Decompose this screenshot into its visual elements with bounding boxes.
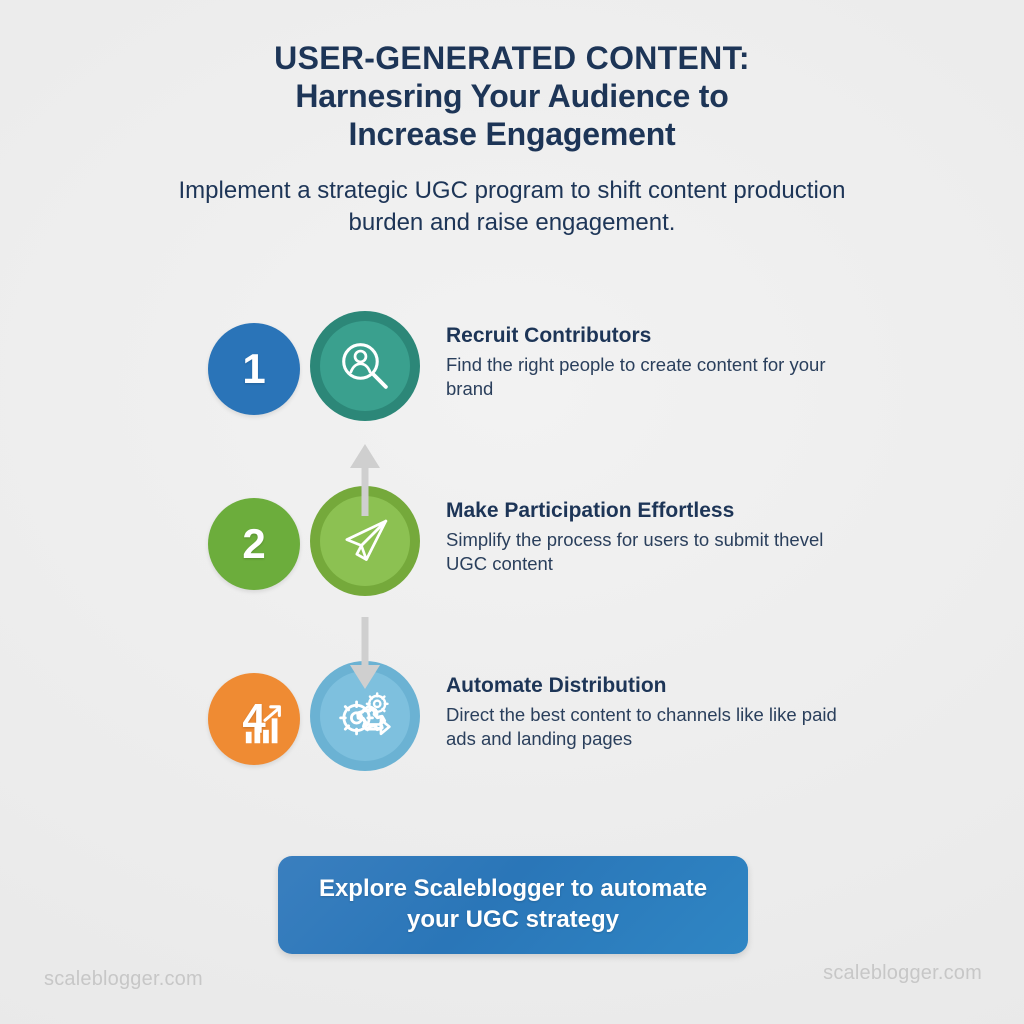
step-text: Automate Distribution Direct the best co… <box>446 673 846 751</box>
steps-list: 1 Recruit Contributors Find the right pe… <box>0 305 1024 790</box>
person-search-icon <box>336 337 394 395</box>
step-number: 4 <box>242 698 265 740</box>
cta-button[interactable]: Explore Scaleblogger to automate your UG… <box>278 856 748 954</box>
step-number: 2 <box>242 523 265 565</box>
title-line-2: Harnesring Your Audience to <box>150 78 874 116</box>
page-subtitle: Implement a strategic UGC program to shi… <box>150 175 874 239</box>
step-title: Make Participation Effortless <box>446 498 846 523</box>
step-text: Make Participation Effortless Simplify t… <box>446 498 846 576</box>
step-item: 2 Make Participation Effortless Simplify… <box>0 480 1024 615</box>
step-title: Recruit Contributors <box>446 323 846 348</box>
step-description: Find the right people to create content … <box>446 353 846 400</box>
step-number-badge: 1 <box>208 323 300 415</box>
step-title: Automate Distribution <box>446 673 846 698</box>
step-description: Simplify the process for users to submit… <box>446 528 846 575</box>
step-icon-circle <box>310 311 420 421</box>
paper-plane-icon <box>336 512 394 570</box>
title-line-1: USER-GENERATED CONTENT: <box>150 40 874 78</box>
step-text: Recruit Contributors Find the right peop… <box>446 323 846 401</box>
step-number-badge: 2 <box>208 498 300 590</box>
step-item: 4 <box>0 655 1024 790</box>
header: USER-GENERATED CONTENT: Harnesring Your … <box>0 40 1024 239</box>
infographic-canvas: USER-GENERATED CONTENT: Harnesring Your … <box>0 0 1024 1024</box>
step-number: 1 <box>242 348 265 390</box>
step-description: Direct the best content to channels like… <box>446 703 846 750</box>
step-item: 1 Recruit Contributors Find the right pe… <box>0 305 1024 440</box>
cta-button-label: Explore Scaleblogger to automate your UG… <box>306 874 720 935</box>
page-title: USER-GENERATED CONTENT: Harnesring Your … <box>150 40 874 153</box>
watermark-right: scaleblogger.com <box>823 962 982 985</box>
connector-arrow-up <box>347 440 383 518</box>
title-line-3: Increase Engagement <box>150 116 874 154</box>
watermark-left: scaleblogger.com <box>44 968 203 991</box>
connector-arrow-down <box>347 615 383 693</box>
step-number-badge: 4 <box>208 673 300 765</box>
gears-arrow-icon <box>335 686 395 746</box>
